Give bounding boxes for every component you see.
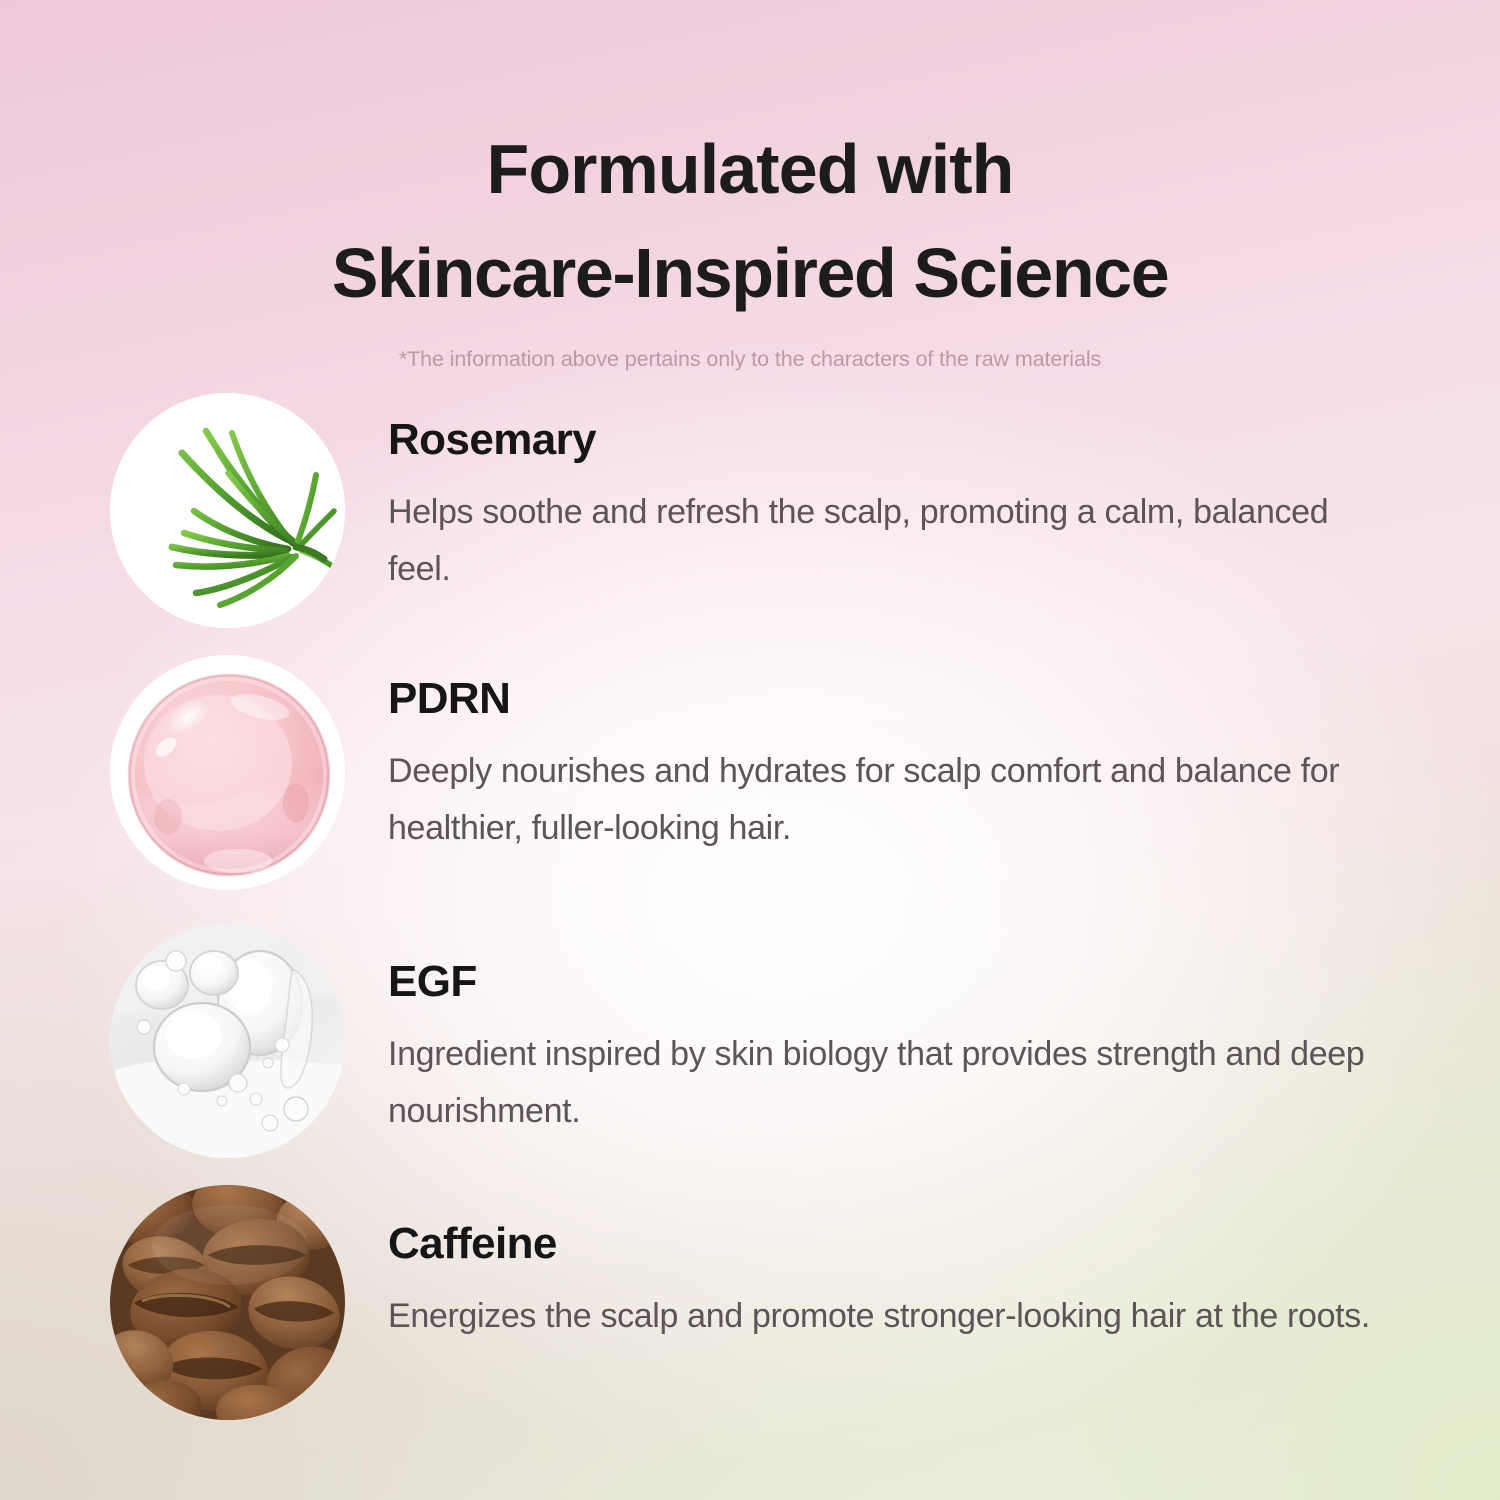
header: Formulated with Skincare-Inspired Scienc… bbox=[0, 118, 1500, 372]
ingredient-text: Caffeine Energizes the scalp and promote… bbox=[345, 1185, 1440, 1345]
ingredient-description: Deeply nourishes and hydrates for scalp … bbox=[388, 743, 1398, 857]
ingredient-list: Rosemary Helps soothe and refresh the sc… bbox=[110, 393, 1440, 1447]
ingredient-description: Energizes the scalp and promote stronger… bbox=[388, 1288, 1398, 1345]
coffee-beans-image bbox=[110, 1185, 345, 1420]
ingredient-title: PDRN bbox=[388, 676, 1440, 722]
list-item: PDRN Deeply nourishes and hydrates for s… bbox=[110, 655, 1440, 923]
headline-line-2: Skincare-Inspired Science bbox=[0, 222, 1500, 326]
infographic-page: Formulated with Skincare-Inspired Scienc… bbox=[0, 0, 1500, 1500]
list-item: Caffeine Energizes the scalp and promote… bbox=[110, 1185, 1440, 1447]
ingredient-thumbnail bbox=[110, 1185, 345, 1420]
rosemary-sprig-image bbox=[110, 393, 345, 628]
ingredient-text: Rosemary Helps soothe and refresh the sc… bbox=[345, 393, 1440, 598]
disclaimer-note: *The information above pertains only to … bbox=[0, 347, 1500, 372]
ingredient-thumbnail bbox=[110, 923, 345, 1158]
ingredient-text: PDRN Deeply nourishes and hydrates for s… bbox=[345, 655, 1440, 857]
ingredient-thumbnail bbox=[110, 393, 345, 628]
clear-gel-bubbles-image bbox=[110, 923, 345, 1158]
list-item: Rosemary Helps soothe and refresh the sc… bbox=[110, 393, 1440, 655]
ingredient-thumbnail bbox=[110, 655, 345, 890]
ingredient-text: EGF Ingredient inspired by skin biology … bbox=[345, 923, 1440, 1140]
ingredient-description: Helps soothe and refresh the scalp, prom… bbox=[388, 484, 1398, 598]
pink-droplet-sphere-image bbox=[110, 655, 345, 890]
ingredient-description: Ingredient inspired by skin biology that… bbox=[388, 1026, 1398, 1140]
ingredient-title: Rosemary bbox=[388, 417, 1440, 463]
ingredient-title: Caffeine bbox=[388, 1221, 1440, 1267]
ingredient-title: EGF bbox=[388, 959, 1440, 1005]
headline-line-1: Formulated with bbox=[0, 118, 1500, 222]
list-item: EGF Ingredient inspired by skin biology … bbox=[110, 923, 1440, 1185]
